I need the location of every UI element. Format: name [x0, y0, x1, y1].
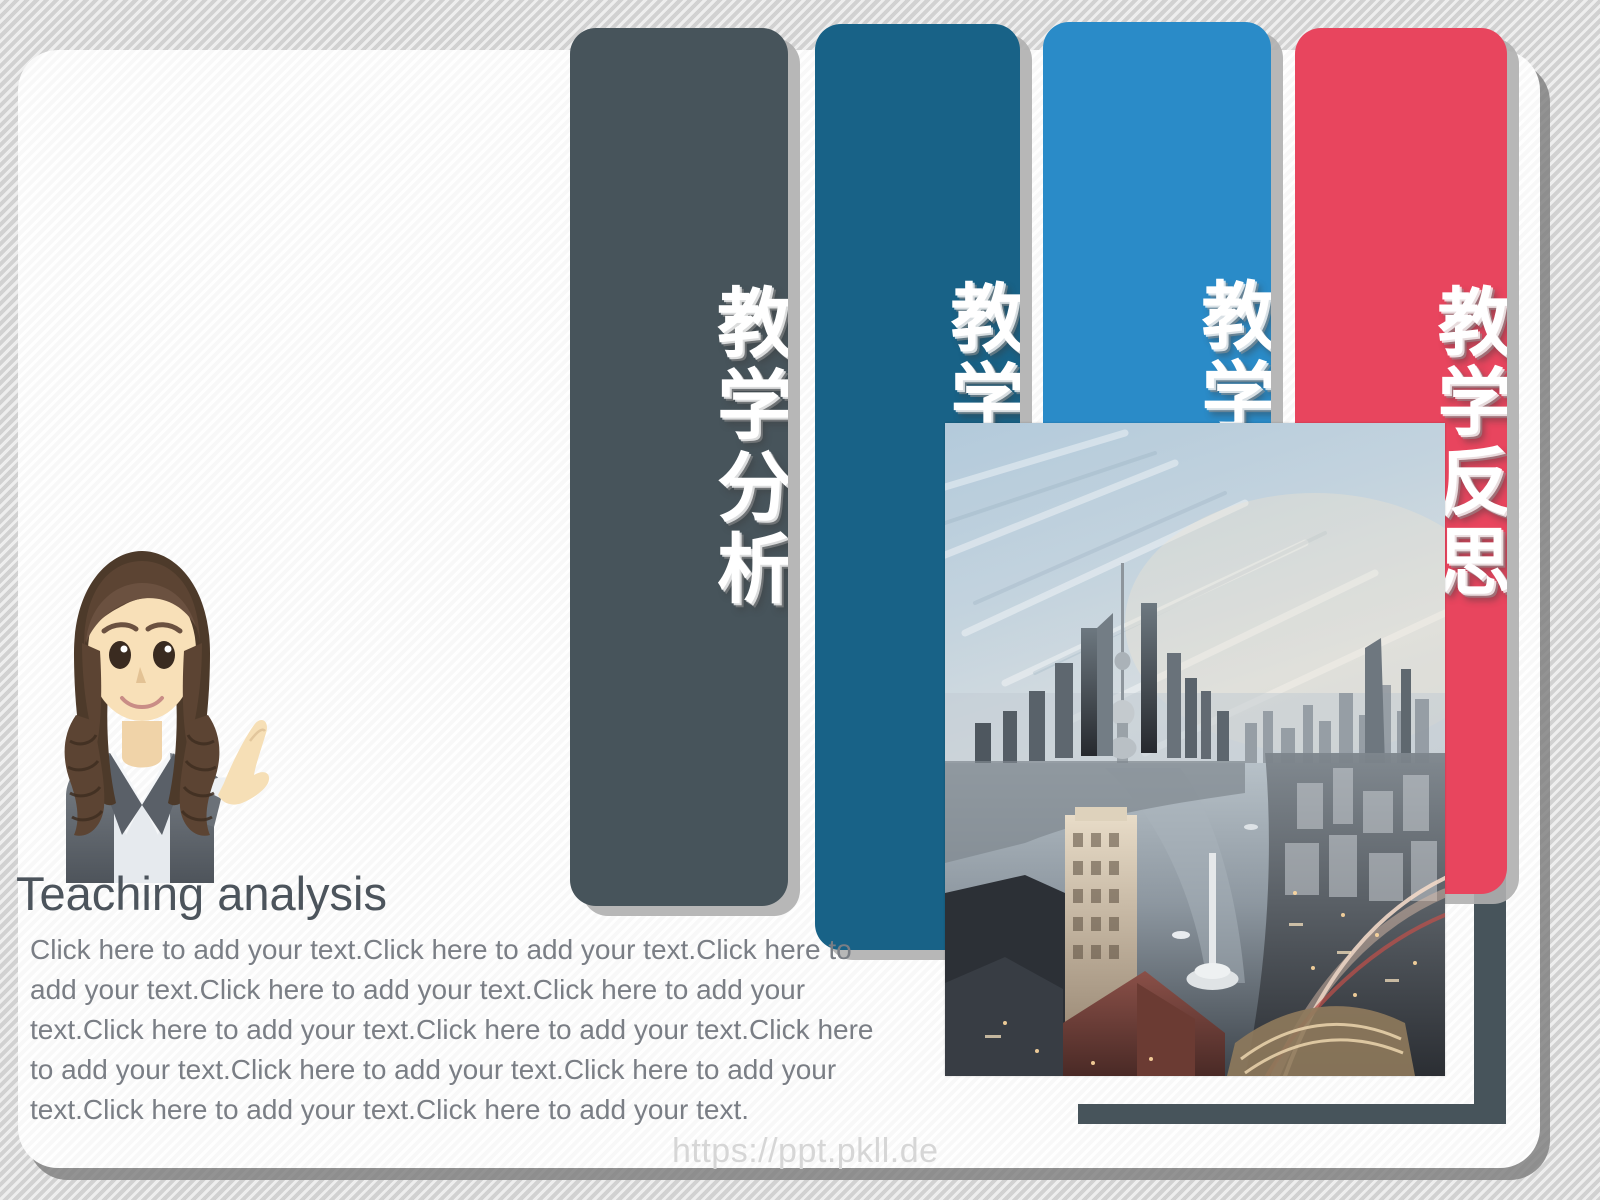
tab-card-label-0: 教学分析: [570, 283, 788, 611]
slide-canvas: 教学分析 教学策略 教学过程 教学反思: [0, 0, 1600, 1200]
page-title: Teaching analysis: [16, 866, 387, 921]
body-text: Click here to add your text.Click here t…: [30, 930, 892, 1130]
accent-frame-horizontal: [1078, 1104, 1506, 1124]
tab-card-text-0: 教学分析: [707, 283, 788, 611]
tab-card-teaching-analysis[interactable]: 教学分析: [570, 28, 788, 906]
presenter-illustration: [18, 535, 286, 883]
city-skyline-photo: [945, 423, 1445, 1076]
